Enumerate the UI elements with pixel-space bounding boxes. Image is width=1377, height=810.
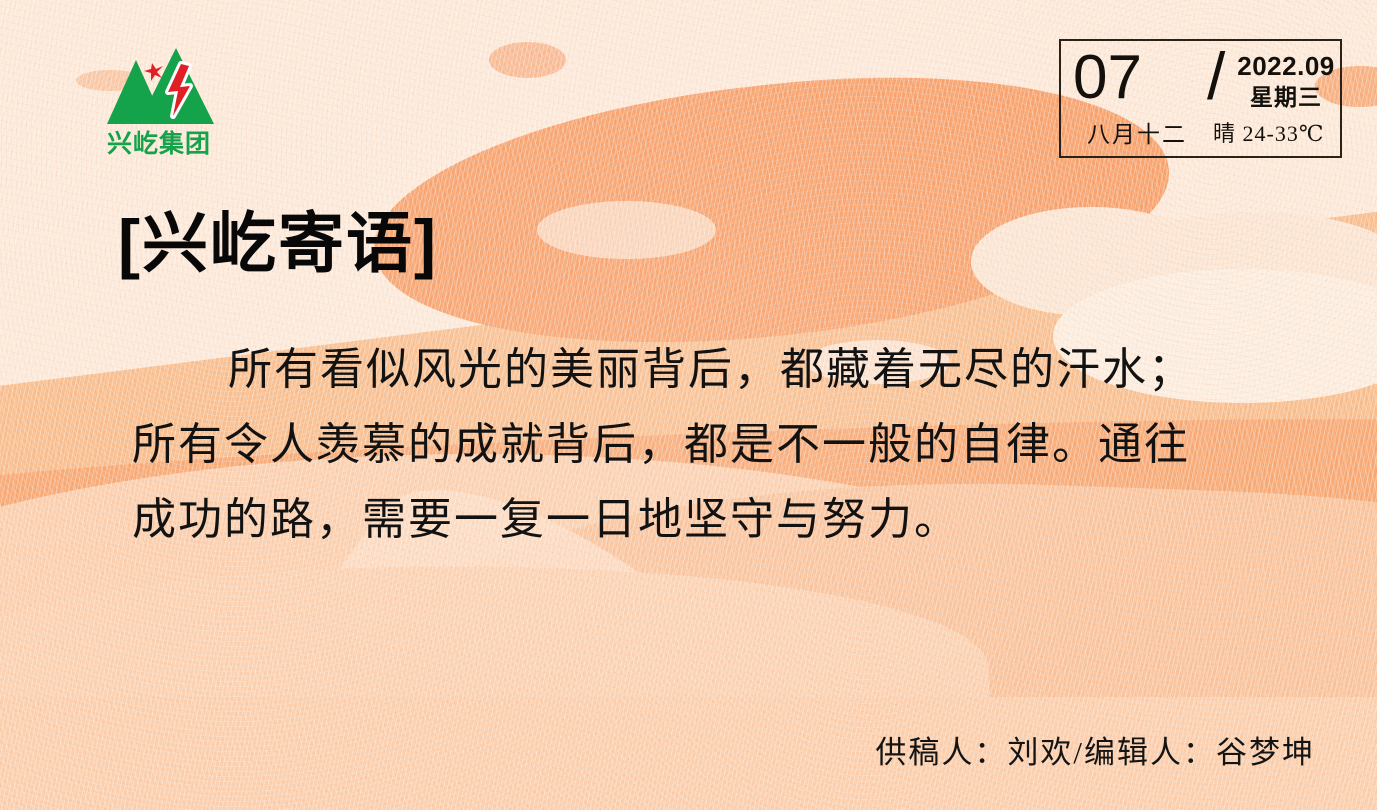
credit-line: 供稿人：刘欢/编辑人：谷梦坤 <box>875 727 1315 772</box>
body-line-1: 所有看似风光的美丽背后，都藏着无尽的汗水； <box>132 332 1307 407</box>
date-day: 07 <box>1073 47 1142 109</box>
date-weekday: 星期三 <box>1231 86 1341 109</box>
date-weather: 晴 24-33℃ <box>1213 123 1324 145</box>
logo-wordmark: 兴屹集团 <box>95 131 223 157</box>
date-badge: 07 / 2022.09 星期三 八月十二 晴 24-33℃ <box>1059 39 1342 158</box>
background-cloud-left <box>537 201 716 259</box>
background-cloud-one <box>971 207 1212 316</box>
background-dot-center <box>489 42 566 78</box>
body-line-3: 成功的路，需要一复一日地坚守与努力。 <box>132 482 1307 557</box>
body-line-2: 所有令人羡慕的成就背后，都是不一般的自律。通往 <box>132 407 1307 482</box>
date-separator: / <box>1207 43 1225 109</box>
date-year-month: 2022.09 <box>1231 53 1341 79</box>
poster-canvas: 兴屹集团 07 / 2022.09 星期三 八月十二 晴 24-33℃ [兴屹寄… <box>0 0 1377 810</box>
twin-mountain-icon <box>95 44 223 130</box>
body-copy: 所有看似风光的美丽背后，都藏着无尽的汗水； 所有令人羡慕的成就背后，都是不一般的… <box>132 332 1307 557</box>
background-cloud-two <box>1095 212 1377 342</box>
company-logo: 兴屹集团 <box>95 44 223 162</box>
date-lunar: 八月十二 <box>1087 123 1187 146</box>
page-title: [兴屹寄语] <box>118 206 438 282</box>
background-dune-front <box>0 552 996 810</box>
